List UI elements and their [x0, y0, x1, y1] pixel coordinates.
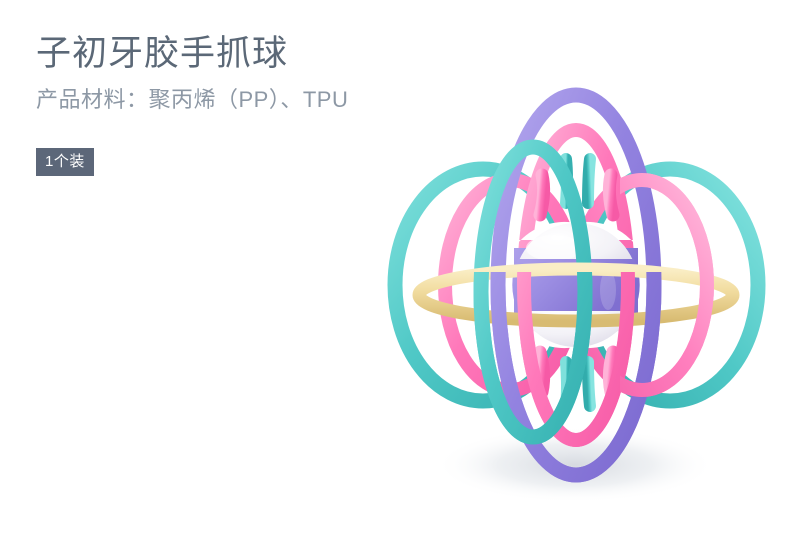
- product-banner: 子初牙胶手抓球 产品材料：聚丙烯（PP）、TPU 1个装: [0, 0, 790, 554]
- product-image: [370, 40, 770, 520]
- package-quantity-badge: 1个装: [36, 148, 94, 176]
